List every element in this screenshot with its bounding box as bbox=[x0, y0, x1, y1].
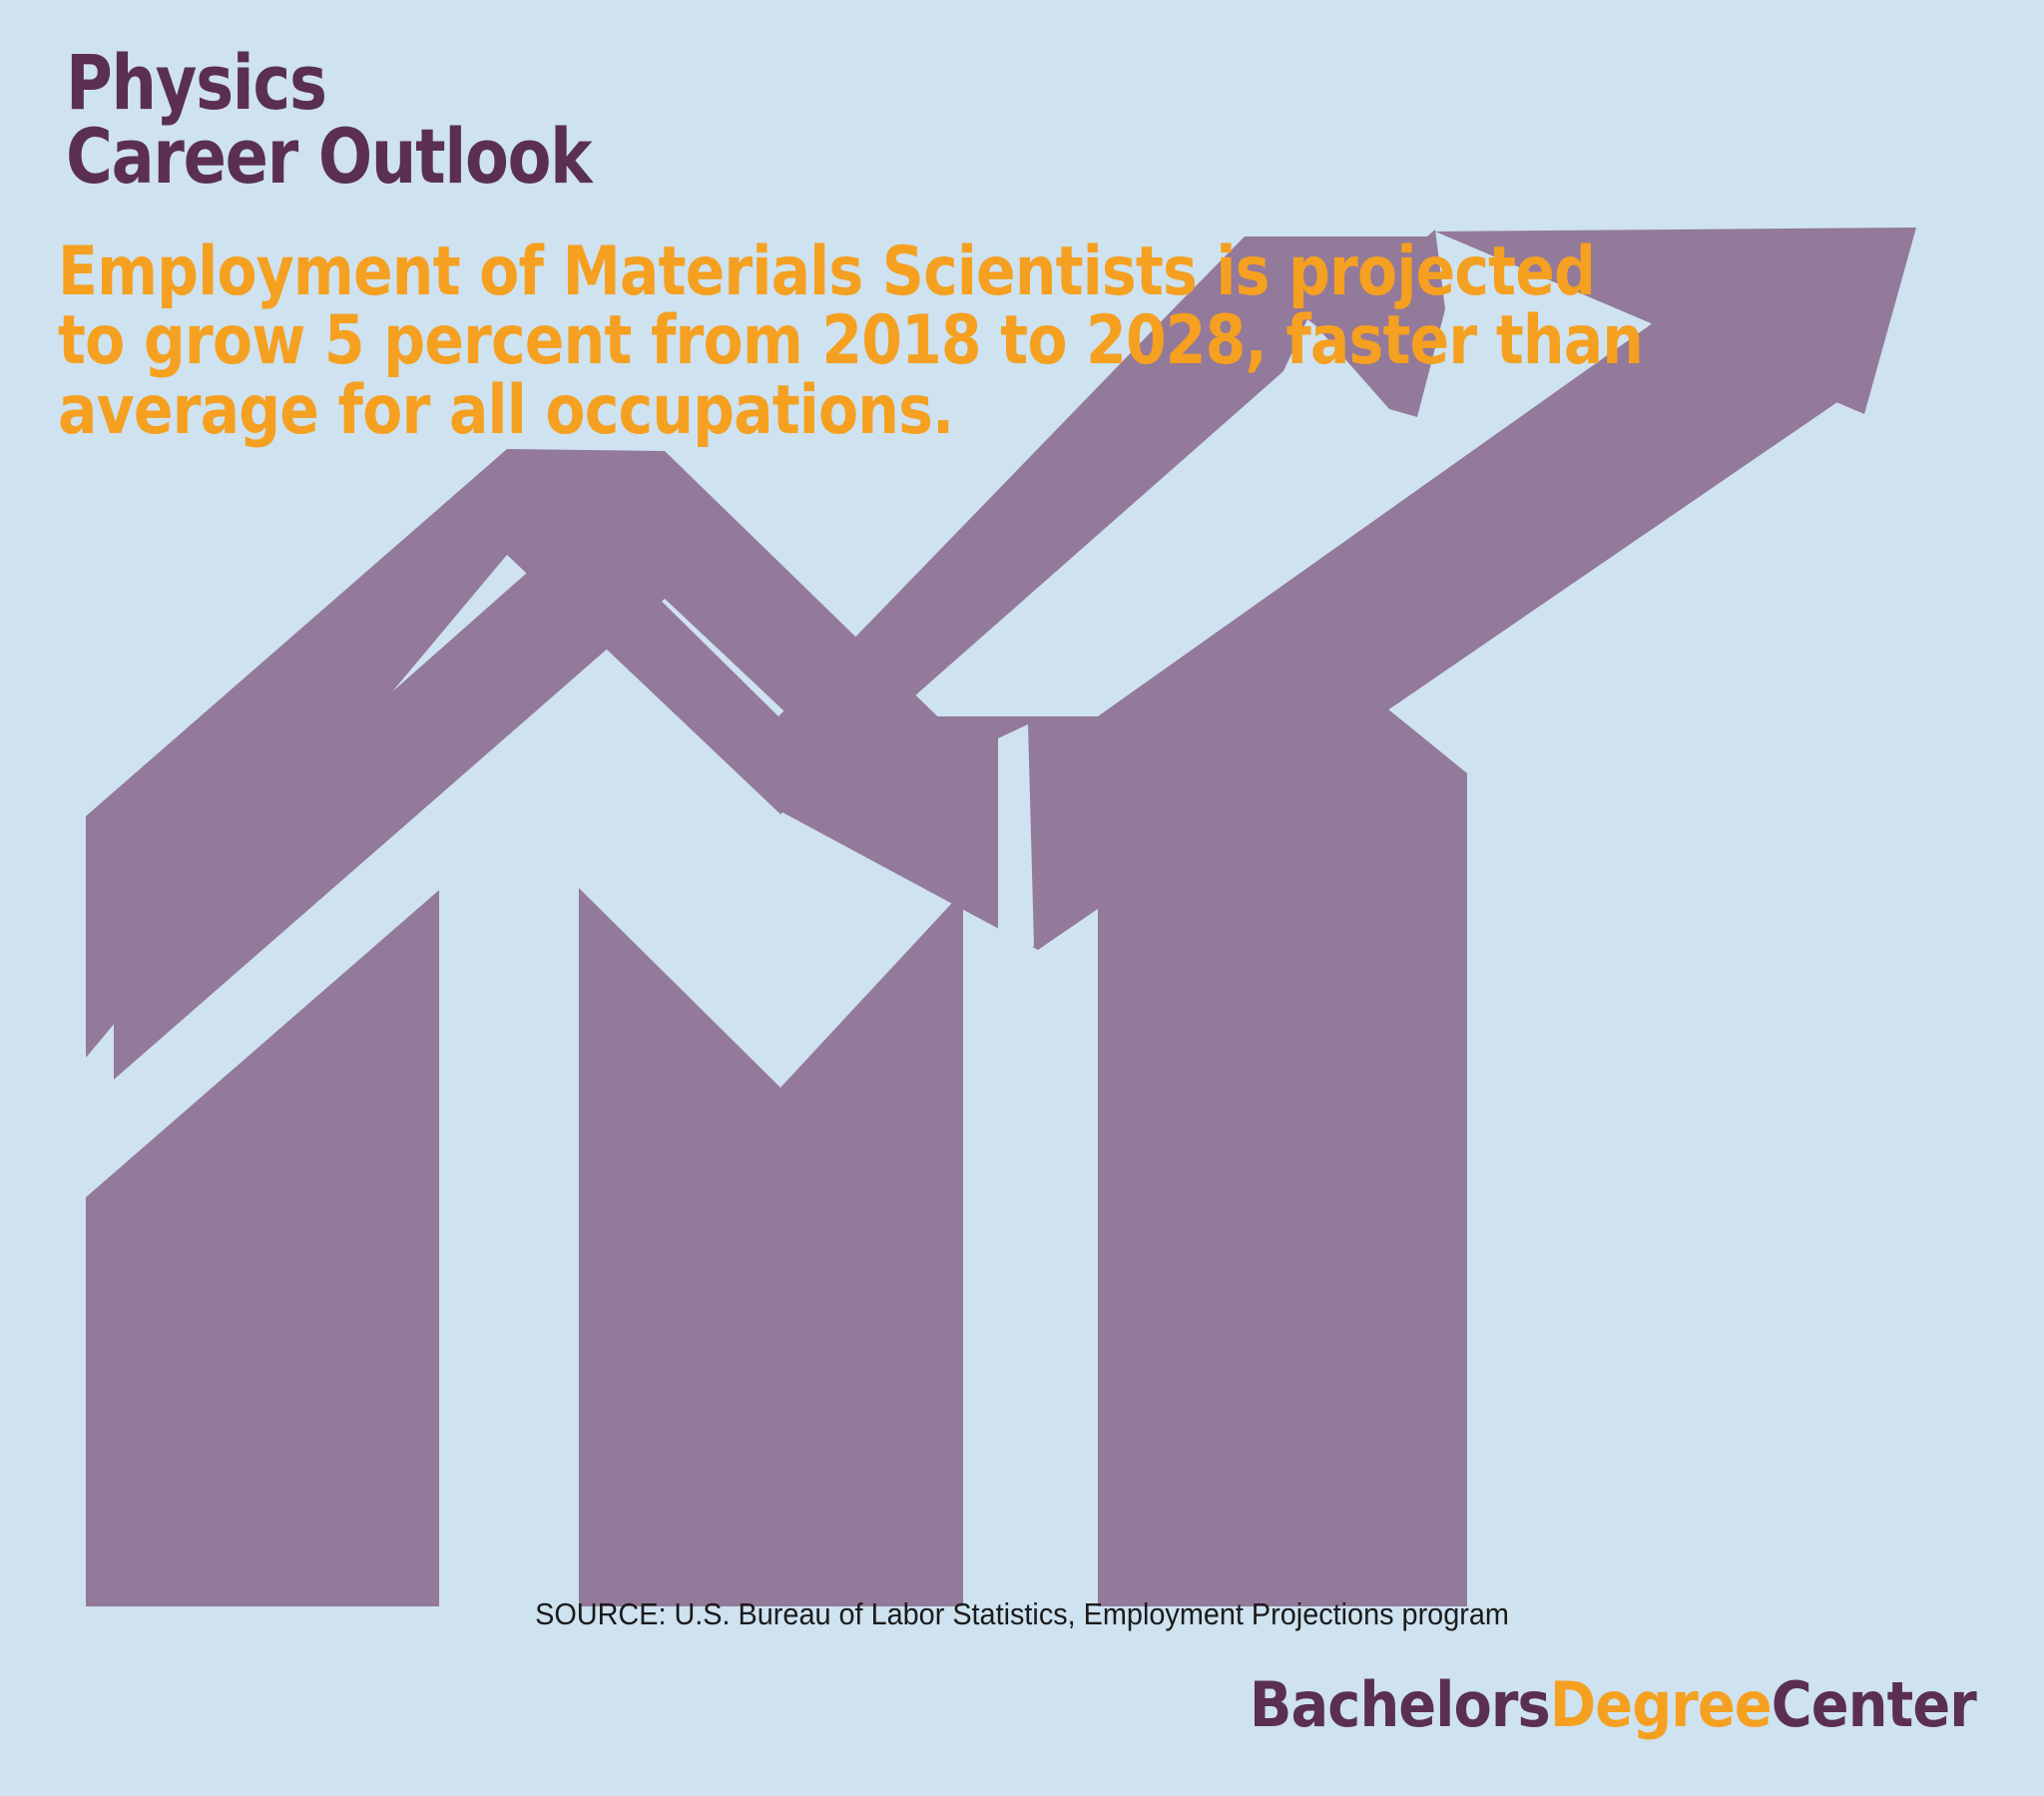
infographic-canvas: Physics Career Outlook Employment of Mat… bbox=[0, 0, 2044, 1796]
chart-graphic bbox=[0, 0, 2044, 1796]
arrow-valley-notch bbox=[998, 724, 1034, 958]
chart-bar-2 bbox=[579, 888, 963, 1606]
